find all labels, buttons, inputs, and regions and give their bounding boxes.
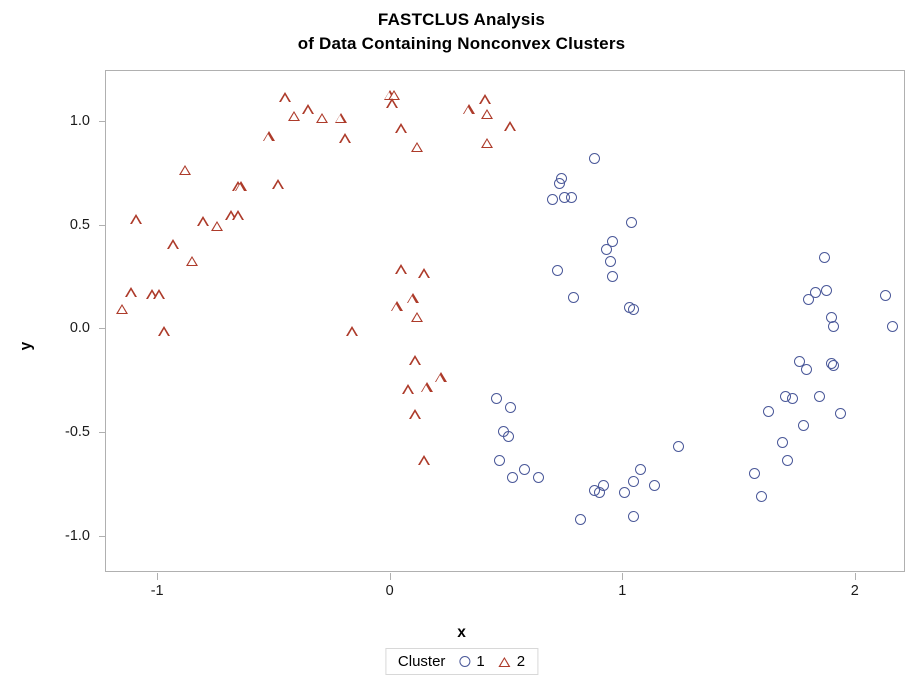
legend-item-cluster-2[interactable]: 2 <box>499 653 525 670</box>
legend-label-1: 1 <box>476 653 484 670</box>
data-point-cluster-2 <box>418 268 430 278</box>
data-point-cluster-1 <box>507 472 518 483</box>
data-point-cluster-2 <box>395 264 407 274</box>
data-point-cluster-1 <box>626 217 637 228</box>
data-point-cluster-1 <box>494 455 505 466</box>
data-point-cluster-2 <box>504 121 516 131</box>
data-point-cluster-2 <box>211 221 223 231</box>
data-point-cluster-2 <box>279 92 291 102</box>
chart-title-block: FASTCLUS Analysis of Data Containing Non… <box>0 8 923 56</box>
data-point-cluster-1 <box>880 290 891 301</box>
x-tick-label: 2 <box>851 583 859 599</box>
plot-area: -10121.00.50.0-0.5-1.0 <box>105 70 905 572</box>
data-point-cluster-2 <box>197 216 209 226</box>
y-tick-label: -0.5 <box>65 424 90 440</box>
data-point-cluster-2 <box>316 113 328 123</box>
data-point-cluster-1 <box>798 420 809 431</box>
data-point-cluster-1 <box>554 178 565 189</box>
x-axis-label: x <box>0 624 923 642</box>
legend-item-cluster-1[interactable]: 1 <box>459 653 484 670</box>
data-point-cluster-1 <box>673 441 684 452</box>
y-tick <box>99 225 106 226</box>
data-point-cluster-1 <box>819 252 830 263</box>
data-point-cluster-1 <box>835 408 846 419</box>
data-point-cluster-2 <box>407 293 419 303</box>
data-point-cluster-2 <box>167 239 179 249</box>
x-tick <box>855 573 856 580</box>
data-point-cluster-1 <box>589 153 600 164</box>
data-point-cluster-2 <box>463 104 475 114</box>
data-point-cluster-1 <box>519 464 530 475</box>
data-point-cluster-1 <box>756 491 767 502</box>
data-point-cluster-1 <box>787 393 798 404</box>
y-tick <box>99 536 106 537</box>
data-point-cluster-2 <box>116 304 128 314</box>
data-point-cluster-1 <box>749 468 760 479</box>
data-point-cluster-2 <box>302 104 314 114</box>
data-point-cluster-2 <box>235 181 247 191</box>
data-point-cluster-1 <box>814 391 825 402</box>
data-point-cluster-1 <box>601 244 612 255</box>
data-point-cluster-2 <box>153 289 165 299</box>
data-point-cluster-1 <box>887 321 898 332</box>
chart-title: FASTCLUS Analysis <box>0 8 923 32</box>
chart-canvas: FASTCLUS Analysis of Data Containing Non… <box>0 0 923 693</box>
data-point-cluster-2 <box>411 142 423 152</box>
data-point-cluster-1 <box>568 292 579 303</box>
data-point-cluster-1 <box>533 472 544 483</box>
data-point-cluster-1 <box>605 256 616 267</box>
data-point-cluster-1 <box>821 285 832 296</box>
chart-subtitle: of Data Containing Nonconvex Clusters <box>0 32 923 56</box>
data-point-cluster-2 <box>232 210 244 220</box>
legend-title: Cluster <box>398 653 446 670</box>
data-point-cluster-1 <box>777 437 788 448</box>
y-tick-label: 0.0 <box>70 320 90 336</box>
data-point-cluster-2 <box>391 301 403 311</box>
y-tick-label: -1.0 <box>65 528 90 544</box>
x-tick-label: 1 <box>618 583 626 599</box>
data-point-cluster-1 <box>628 511 639 522</box>
y-axis-label: y <box>17 342 35 351</box>
legend: Cluster 1 2 <box>385 648 538 675</box>
data-point-cluster-2 <box>272 179 284 189</box>
data-point-cluster-2 <box>288 111 300 121</box>
data-point-cluster-1 <box>552 265 563 276</box>
data-point-cluster-2 <box>179 165 191 175</box>
data-point-cluster-1 <box>491 393 502 404</box>
x-tick-label: -1 <box>151 583 164 599</box>
data-point-cluster-2 <box>481 138 493 148</box>
data-point-cluster-1 <box>619 487 630 498</box>
data-point-cluster-1 <box>547 194 558 205</box>
data-point-cluster-2 <box>402 384 414 394</box>
data-point-cluster-2 <box>409 355 421 365</box>
data-point-cluster-1 <box>649 480 660 491</box>
data-point-cluster-2 <box>125 287 137 297</box>
data-point-cluster-2 <box>339 133 351 143</box>
triangle-marker-icon <box>499 657 511 667</box>
data-point-cluster-1 <box>763 406 774 417</box>
data-point-cluster-1 <box>635 464 646 475</box>
data-point-cluster-1 <box>505 402 516 413</box>
data-point-cluster-2 <box>421 382 433 392</box>
data-point-cluster-2 <box>481 109 493 119</box>
data-point-cluster-2 <box>395 123 407 133</box>
circle-marker-icon <box>459 656 470 667</box>
data-point-cluster-2 <box>411 312 423 322</box>
x-tick-label: 0 <box>386 583 394 599</box>
data-point-cluster-1 <box>828 321 839 332</box>
data-point-cluster-1 <box>598 480 609 491</box>
data-point-cluster-1 <box>566 192 577 203</box>
x-tick <box>622 573 623 580</box>
y-tick <box>99 121 106 122</box>
data-point-cluster-2 <box>435 372 447 382</box>
x-tick <box>157 573 158 580</box>
data-point-cluster-1 <box>628 476 639 487</box>
data-point-cluster-1 <box>828 360 839 371</box>
data-point-cluster-1 <box>503 431 514 442</box>
data-point-cluster-1 <box>628 304 639 315</box>
y-tick <box>99 328 106 329</box>
data-point-cluster-2 <box>418 455 430 465</box>
data-point-cluster-2 <box>130 214 142 224</box>
legend-label-2: 2 <box>517 653 525 670</box>
data-point-cluster-2 <box>158 326 170 336</box>
y-tick <box>99 432 106 433</box>
data-point-cluster-2 <box>186 256 198 266</box>
data-point-cluster-1 <box>575 514 586 525</box>
data-point-cluster-2 <box>263 131 275 141</box>
data-point-cluster-1 <box>801 364 812 375</box>
y-tick-label: 1.0 <box>70 113 90 129</box>
data-point-cluster-1 <box>782 455 793 466</box>
data-point-cluster-2 <box>386 98 398 108</box>
data-point-cluster-2 <box>479 94 491 104</box>
data-point-cluster-2 <box>346 326 358 336</box>
data-point-cluster-2 <box>409 409 421 419</box>
y-tick-label: 0.5 <box>70 217 90 233</box>
data-point-cluster-1 <box>607 271 618 282</box>
data-point-cluster-1 <box>803 294 814 305</box>
data-point-cluster-2 <box>335 113 347 123</box>
x-tick <box>390 573 391 580</box>
